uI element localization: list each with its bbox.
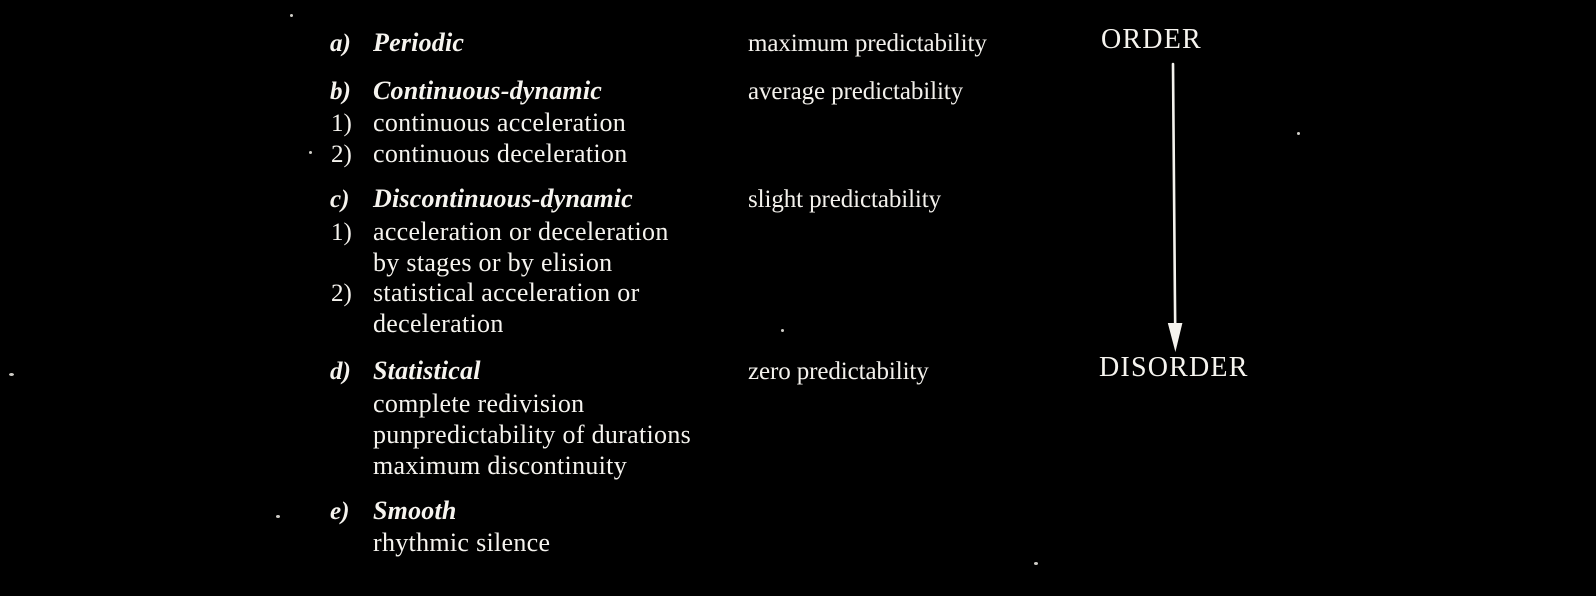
subitem-marker-b2: 2)	[331, 142, 352, 167]
entry-predictability-a: maximum predictability	[748, 31, 987, 56]
scan-speckle	[9, 373, 14, 376]
subitem-text-punpredictability-of-durations: punpredictability of durations	[373, 422, 691, 448]
pole-label-disorder: DISORDER	[1099, 354, 1249, 382]
subitem-text-complete-redivision: complete redivision	[373, 391, 584, 417]
subitem-text-continuous-acceleration: continuous acceleration	[373, 110, 626, 136]
entry-marker-b: b)	[330, 79, 351, 104]
entry-category-smooth: Smooth	[373, 498, 457, 524]
entry-category-periodic: Periodic	[373, 30, 464, 56]
scan-speckle	[276, 515, 280, 518]
entry-category-continuous-dynamic: Continuous-dynamic	[373, 78, 602, 104]
diagram-canvas: a) Periodic maximum predictability b) Co…	[0, 0, 1596, 596]
subitem-text-maximum-discontinuity: maximum discontinuity	[373, 453, 627, 479]
scan-speckle	[309, 151, 312, 154]
entry-marker-d: d)	[330, 359, 351, 384]
subitem-text-rhythmic-silence: rhythmic silence	[373, 530, 550, 556]
subitem-marker-c1: 1)	[331, 220, 352, 245]
subitem-marker-c2: 2)	[331, 281, 352, 306]
entry-marker-a: a)	[330, 31, 351, 56]
scan-speckle	[1297, 132, 1300, 135]
entry-category-statistical: Statistical	[373, 358, 481, 384]
entry-predictability-c: slight predictability	[748, 187, 941, 212]
entry-predictability-d: zero predictability	[748, 359, 929, 384]
entry-marker-e: e)	[330, 499, 349, 524]
subitem-text-acceleration-or-deceleration: acceleration or deceleration	[373, 219, 669, 245]
subitem-text-continuous-deceleration: continuous deceleration	[373, 141, 628, 167]
subitem-marker-b1: 1)	[331, 111, 352, 136]
scan-speckle	[781, 329, 784, 332]
pole-label-order: ORDER	[1101, 26, 1202, 54]
subitem-text-by-stages-or-by-elision: by stages or by elision	[373, 250, 612, 276]
entry-predictability-b: average predictability	[748, 79, 963, 104]
scan-speckle	[1034, 562, 1038, 565]
entry-category-discontinuous-dynamic: Discontinuous-dynamic	[373, 186, 633, 212]
subitem-text-statistical-acceleration-or: statistical acceleration or	[373, 280, 640, 306]
order-to-disorder-arrow	[1150, 55, 1210, 360]
subitem-text-deceleration: deceleration	[373, 311, 504, 337]
scan-speckle	[290, 14, 293, 17]
entry-marker-c: c)	[330, 187, 349, 212]
